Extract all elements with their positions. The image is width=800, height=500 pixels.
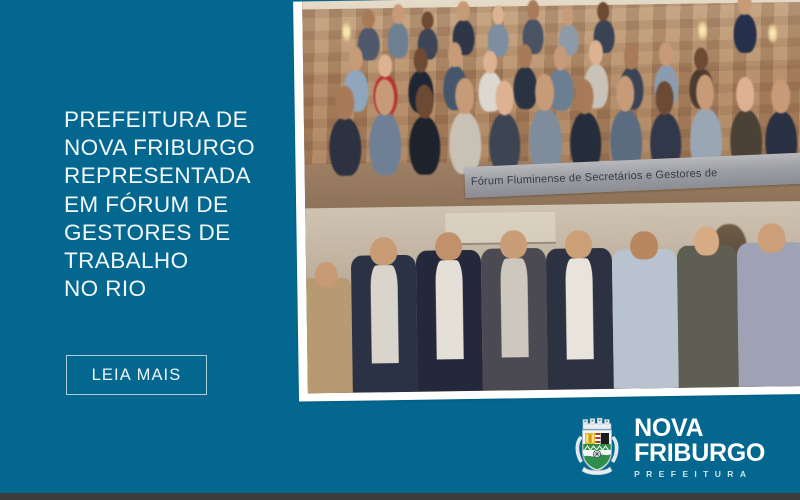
person xyxy=(611,249,678,389)
person xyxy=(546,248,613,390)
logo-subtitle: PREFEITURA xyxy=(634,470,765,479)
news-banner: Fórum Fluminense de Secretários e Gestor… xyxy=(0,0,800,500)
person xyxy=(351,255,418,393)
wall-lamp-icon xyxy=(698,20,706,40)
person xyxy=(737,242,800,387)
wall-lamp-icon xyxy=(342,22,350,42)
person xyxy=(388,23,410,59)
hall-group-photo xyxy=(305,201,800,393)
logo-line-nova: NOVA xyxy=(634,416,765,441)
person xyxy=(481,247,548,390)
logo-lockup[interactable]: NOVA FRIBURGO PREFEITURA xyxy=(571,416,765,479)
person xyxy=(733,13,757,53)
logo-line-friburgo: FRIBURGO xyxy=(634,441,765,466)
headline-line: NO RIO xyxy=(64,275,304,303)
headline-line: GESTORES DE xyxy=(64,219,304,247)
person xyxy=(305,278,353,393)
headline: PREFEITURA DE NOVA FRIBURGO REPRESENTADA… xyxy=(64,106,304,303)
footer-strip xyxy=(0,493,800,500)
headline-line: REPRESENTADA xyxy=(64,162,304,190)
photo-stack: Fórum Fluminense de Secretários e Gestor… xyxy=(302,0,800,393)
wall-lamp-icon xyxy=(768,24,776,44)
person xyxy=(329,117,362,176)
read-more-button[interactable]: LEIA MAIS xyxy=(66,355,207,395)
headline-line: TRABALHO xyxy=(64,247,304,275)
nova-friburgo-coat-of-arms-icon xyxy=(571,416,623,478)
headline-line: EM FÓRUM DE xyxy=(64,191,304,219)
auditorium-group-photo: Fórum Fluminense de Secretários e Gestor… xyxy=(302,0,800,210)
person xyxy=(676,245,738,388)
photo-panel: Fórum Fluminense de Secretários e Gestor… xyxy=(293,0,800,402)
headline-line: PREFEITURA DE xyxy=(64,106,304,134)
headline-line: NOVA FRIBURGO xyxy=(64,134,304,162)
read-more-label: LEIA MAIS xyxy=(92,366,182,385)
person xyxy=(416,250,483,392)
forum-banner-text: Fórum Fluminense de Secretários e Gestor… xyxy=(465,166,718,187)
logo-text: NOVA FRIBURGO PREFEITURA xyxy=(634,416,765,479)
